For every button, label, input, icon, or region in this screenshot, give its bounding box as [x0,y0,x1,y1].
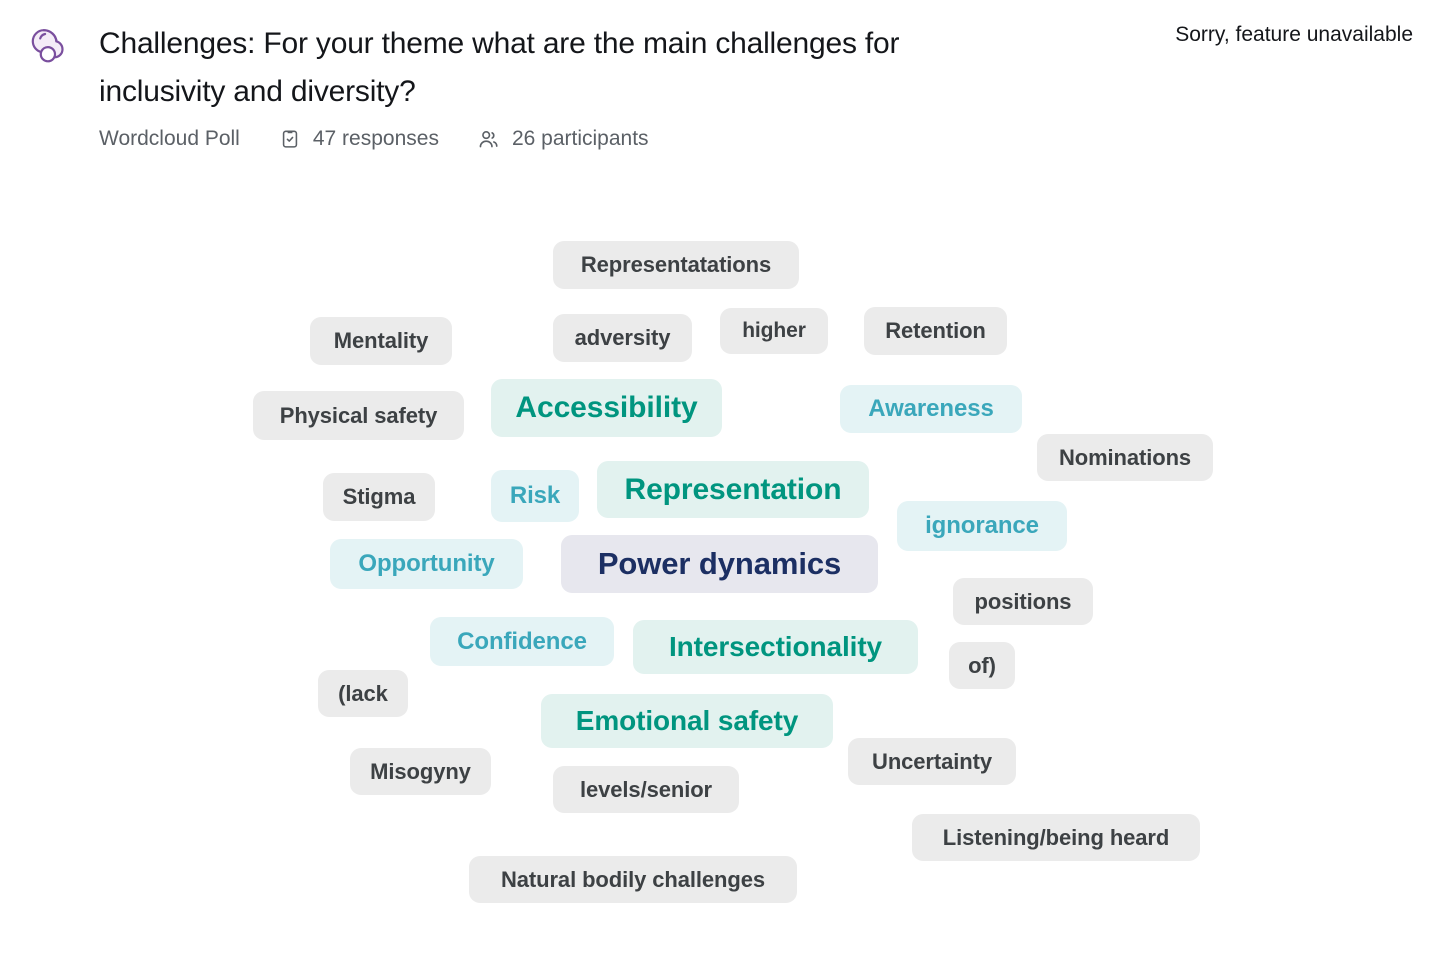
wordcloud-word[interactable]: Intersectionality [633,620,918,674]
wordcloud-word[interactable]: Awareness [840,385,1022,433]
wordcloud-word[interactable]: Confidence [430,617,614,666]
wordcloud-canvas: RepresentatationsMentalityadversityhighe… [0,0,1446,954]
wordcloud-word[interactable]: Risk [491,470,579,522]
wordcloud-word[interactable]: adversity [553,314,692,362]
wordcloud-word[interactable]: Misogyny [350,748,491,795]
wordcloud-word[interactable]: Uncertainty [848,738,1016,785]
wordcloud-word[interactable]: positions [953,578,1093,625]
wordcloud-word[interactable]: (lack [318,670,408,717]
wordcloud-word[interactable]: Representation [597,461,869,518]
wordcloud-word[interactable]: Nominations [1037,434,1213,481]
wordcloud-word[interactable]: Mentality [310,317,452,365]
wordcloud-word[interactable]: levels/senior [553,766,739,813]
wordcloud-word[interactable]: Physical safety [253,391,464,440]
wordcloud-word[interactable]: Representatations [553,241,799,289]
wordcloud-word[interactable]: Opportunity [330,539,523,589]
wordcloud-word[interactable]: Retention [864,307,1007,355]
wordcloud-word[interactable]: higher [720,308,828,354]
wordcloud-word[interactable]: Power dynamics [561,535,878,593]
wordcloud-word[interactable]: Emotional safety [541,694,833,748]
wordcloud-word[interactable]: Natural bodily challenges [469,856,797,903]
wordcloud-word[interactable]: Stigma [323,473,435,521]
wordcloud-word[interactable]: ignorance [897,501,1067,551]
wordcloud-word[interactable]: Accessibility [491,379,722,437]
wordcloud-word[interactable]: of) [949,642,1015,689]
wordcloud-word[interactable]: Listening/being heard [912,814,1200,861]
